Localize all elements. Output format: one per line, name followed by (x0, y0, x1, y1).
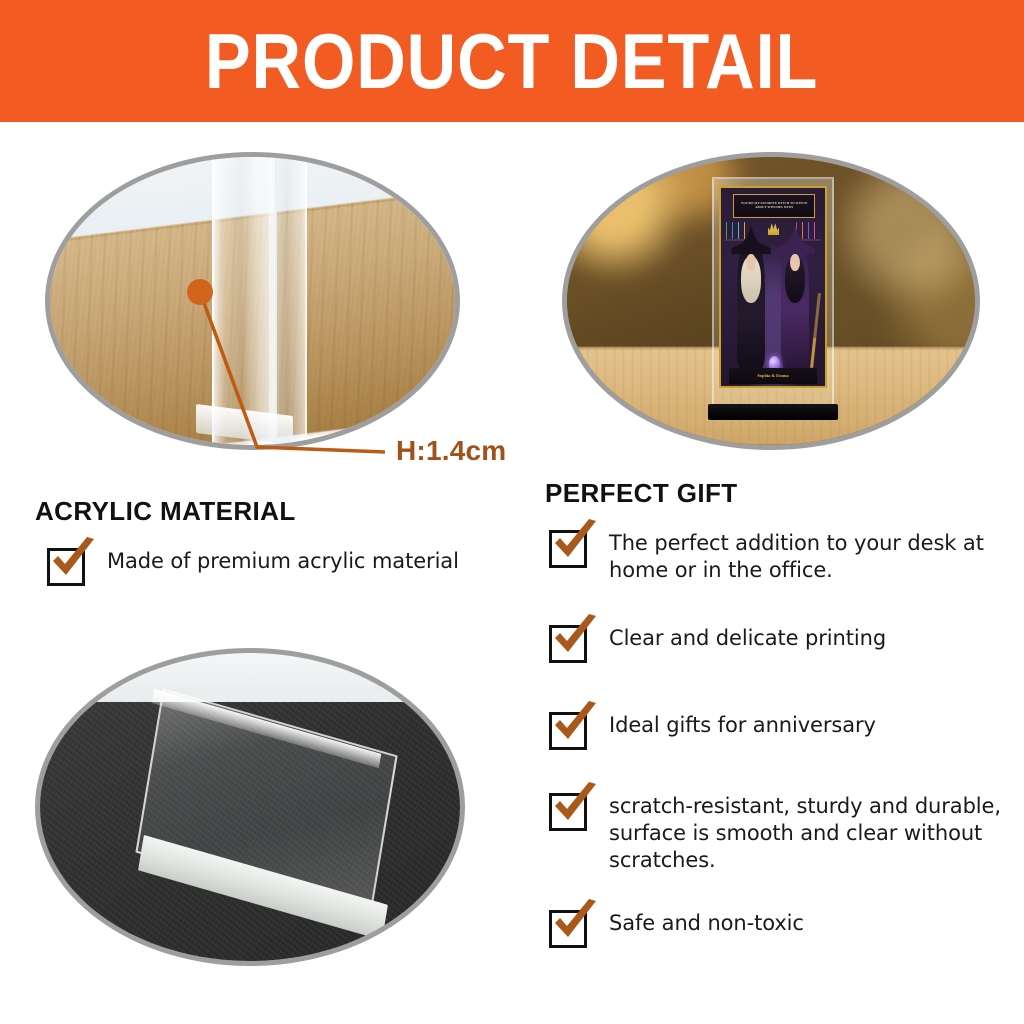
plaque-artwork: YOU'RE MY FAVORITE WITCH TO WITCH ABOUT … (719, 186, 828, 388)
checkbox-icon (549, 793, 587, 831)
checkbox-icon (549, 625, 587, 663)
broom-icon (810, 293, 821, 368)
witch-figure-right (781, 237, 808, 368)
plaque-names-text: Sophia & Emma (757, 373, 788, 378)
plaque-quote-banner: YOU'RE MY FAVORITE WITCH TO WITCH ABOUT … (733, 194, 815, 218)
list-item-text: Made of premium acrylic material (107, 548, 459, 575)
acrylic-edge-scene (50, 157, 455, 445)
acrylic-edge-photo (45, 152, 460, 450)
crown-icon (768, 222, 780, 236)
checkbox-icon (549, 910, 587, 948)
acrylic-block-photo (35, 648, 465, 966)
background-strip (40, 653, 460, 702)
page-title: PRODUCT DETAIL (205, 22, 819, 100)
list-item-text: Ideal gifts for anniversary (609, 712, 876, 739)
witch-face-right (790, 254, 799, 271)
checkmark-icon (47, 537, 99, 583)
witch-figure-left (737, 237, 764, 368)
witch-face-left (746, 254, 755, 271)
plaque-name-plate: Sophia & Emma (729, 368, 817, 384)
section-heading-acrylic-material: ACRYLIC MATERIAL (35, 496, 296, 527)
checkmark-icon (549, 519, 601, 565)
checkbox-icon (549, 530, 587, 568)
product-scene: YOU'RE MY FAVORITE WITCH TO WITCH ABOUT … (567, 157, 975, 445)
list-item: Made of premium acrylic material (47, 548, 517, 586)
checkbox-icon (549, 712, 587, 750)
header-banner: PRODUCT DETAIL (0, 0, 1024, 122)
checkmark-icon (549, 899, 601, 945)
list-item: The perfect addition to your desk at hom… (549, 530, 1009, 584)
checkmark-icon (549, 782, 601, 828)
list-item-text: scratch-resistant, sturdy and durable, s… (609, 793, 1009, 874)
section-heading-perfect-gift: PERFECT GIFT (545, 478, 738, 509)
slate-surface (40, 653, 460, 961)
list-item-text: Safe and non-toxic (609, 910, 804, 937)
checkmark-icon (549, 614, 601, 660)
acrylic-panel-back (269, 152, 307, 450)
height-dimension-label: H:1.4cm (396, 435, 506, 467)
list-item: scratch-resistant, sturdy and durable, s… (549, 793, 1009, 874)
plaque-base (708, 404, 838, 420)
list-item-text: Clear and delicate printing (609, 625, 886, 652)
potion-bottles-left (726, 220, 751, 240)
list-item: Clear and delicate printing (549, 625, 1009, 663)
acrylic-plaque: YOU'RE MY FAVORITE WITCH TO WITCH ABOUT … (712, 177, 834, 410)
list-item-text: The perfect addition to your desk at hom… (609, 530, 1009, 584)
checkbox-icon (47, 548, 85, 586)
acrylic-panel-front (212, 152, 277, 450)
product-display-photo: YOU'RE MY FAVORITE WITCH TO WITCH ABOUT … (562, 152, 980, 450)
list-item: Ideal gifts for anniversary (549, 712, 1009, 750)
checkmark-icon (549, 701, 601, 747)
list-item: Safe and non-toxic (549, 910, 1009, 948)
plaque-quote-line-2: ABOUT WITCHES WITH (755, 206, 793, 210)
potion-bottles-right (795, 220, 820, 240)
